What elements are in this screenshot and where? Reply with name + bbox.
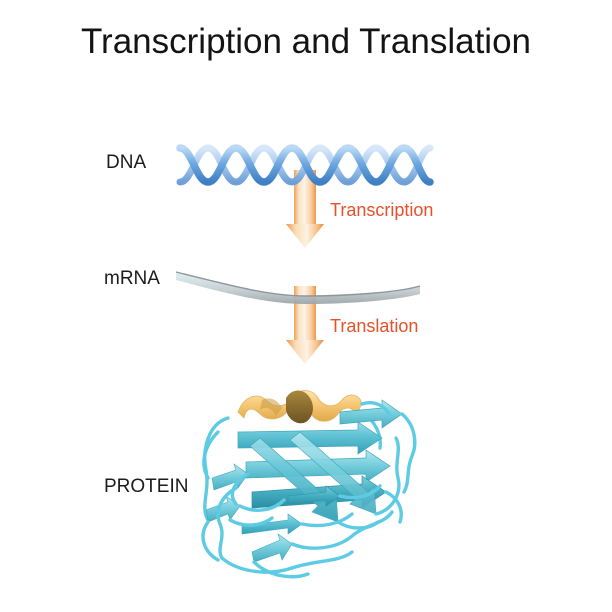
diagram-graphics (0, 0, 612, 612)
protein-ribbon-structure (203, 391, 415, 577)
mrna-strand (176, 264, 420, 304)
diagram-canvas: Transcription and Translation DNA mRNA P… (0, 0, 612, 612)
